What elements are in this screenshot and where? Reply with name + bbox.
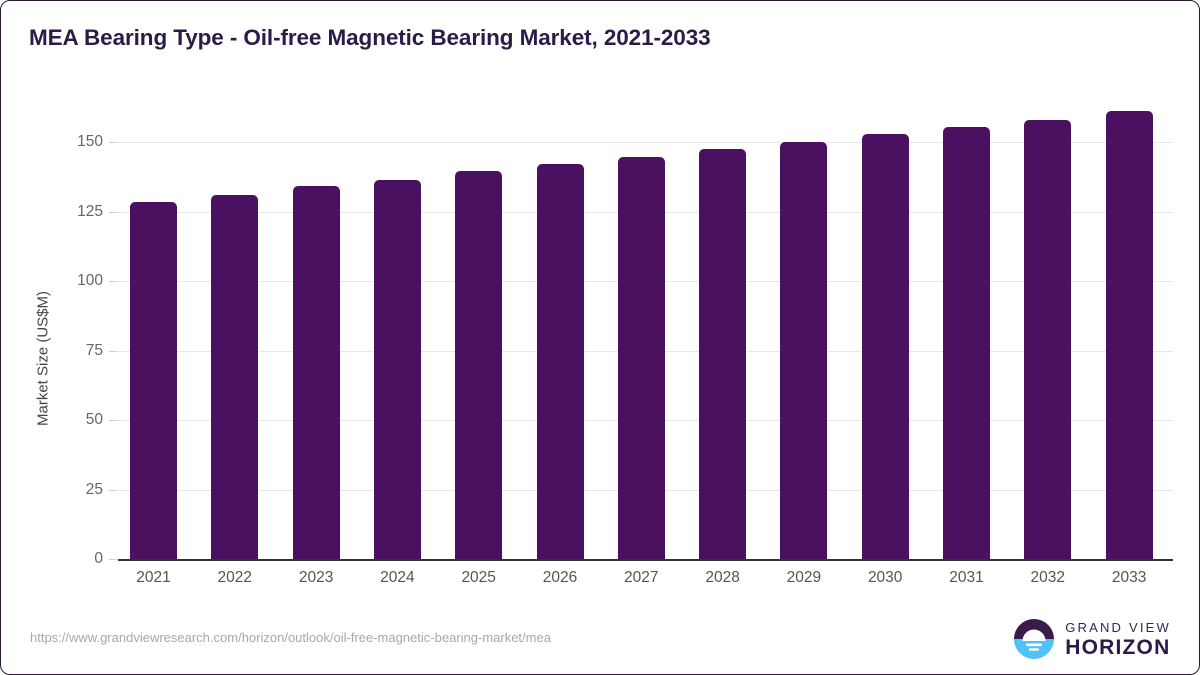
logo-line-1: GRAND VIEW	[1065, 621, 1171, 634]
source-url[interactable]: https://www.grandviewresearch.com/horizo…	[30, 630, 551, 645]
x-tick-label: 2024	[357, 569, 437, 587]
logo-line-2: HORIZON	[1065, 637, 1171, 658]
x-tick-label: 2021	[114, 569, 194, 587]
x-tick-label: 2033	[1089, 569, 1169, 587]
y-tick-label: 0	[43, 550, 103, 568]
bar[interactable]	[618, 157, 665, 559]
x-tick-label: 2022	[195, 569, 275, 587]
x-tick-label: 2026	[520, 569, 600, 587]
bar[interactable]	[374, 180, 421, 559]
x-tick-label: 2028	[683, 569, 763, 587]
chart-card: MEA Bearing Type - Oil-free Magnetic Bea…	[0, 0, 1200, 675]
y-tick-label: 75	[43, 342, 103, 360]
bar[interactable]	[699, 149, 746, 559]
y-tick-mark	[109, 351, 117, 352]
bar[interactable]	[943, 127, 990, 559]
x-tick-label: 2029	[764, 569, 844, 587]
bar[interactable]	[780, 142, 827, 559]
y-tick-mark	[109, 212, 117, 213]
y-tick-label: 25	[43, 481, 103, 499]
horizon-sunrise-icon	[1012, 617, 1056, 661]
x-axis-line	[118, 559, 1173, 561]
y-tick-label: 150	[43, 133, 103, 151]
x-tick-label: 2032	[1008, 569, 1088, 587]
y-tick-mark	[109, 559, 117, 560]
grand-view-horizon-logo[interactable]: GRAND VIEW HORIZON	[1012, 617, 1171, 661]
bar[interactable]	[211, 195, 258, 559]
y-tick-mark	[109, 281, 117, 282]
y-tick-mark	[109, 420, 117, 421]
y-tick-label: 125	[43, 203, 103, 221]
x-tick-label: 2027	[601, 569, 681, 587]
x-tick-label: 2031	[927, 569, 1007, 587]
bar[interactable]	[1106, 111, 1153, 559]
bar[interactable]	[1024, 120, 1071, 559]
y-tick-label: 50	[43, 411, 103, 429]
bar[interactable]	[130, 202, 177, 559]
chart-plot-area: Market Size (US$M) 0255075100125150 2021…	[1, 1, 1200, 675]
y-tick-mark	[109, 490, 117, 491]
y-tick-label: 100	[43, 272, 103, 290]
bar[interactable]	[537, 164, 584, 559]
bar[interactable]	[862, 134, 909, 559]
logo-wordmark: GRAND VIEW HORIZON	[1065, 621, 1171, 658]
x-tick-label: 2030	[845, 569, 925, 587]
y-tick-mark	[109, 142, 117, 143]
bar[interactable]	[455, 171, 502, 559]
gridline	[118, 142, 1173, 143]
x-tick-label: 2025	[439, 569, 519, 587]
bar[interactable]	[293, 186, 340, 559]
x-tick-label: 2023	[276, 569, 356, 587]
